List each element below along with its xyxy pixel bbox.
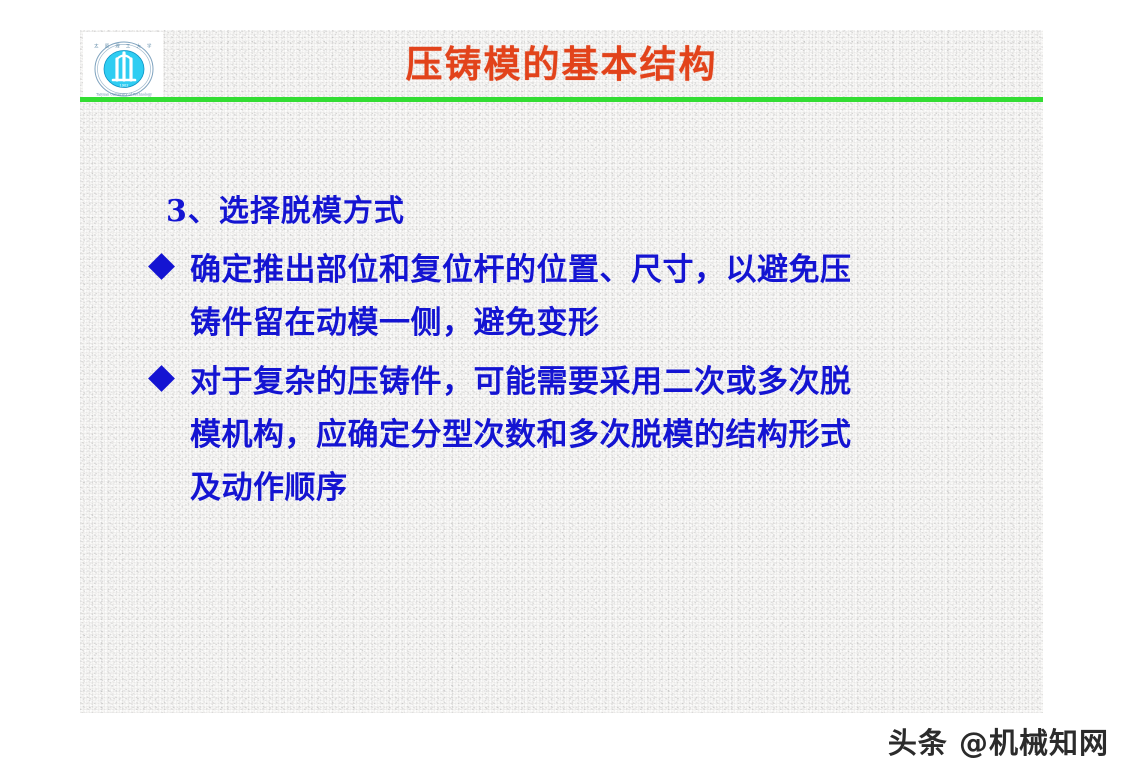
title-underline-rule [80, 97, 1043, 102]
bullet-line: 确定推出部位和复位杆的位置、尺寸，以避免压 [190, 244, 1030, 297]
list-item: 确定推出部位和复位杆的位置、尺寸，以避免压 铸件留在动模一侧，避免变形 [150, 244, 1030, 350]
bullet-line: 铸件留在动模一侧，避免变形 [190, 297, 1030, 350]
slide-title: 压铸模的基本结构 [80, 34, 1043, 94]
slide-header: 1902 太 原 理 工 大 学 Taiyuan University of T… [80, 30, 1043, 102]
bullet-line: 模机构，应确定分型次数和多次脱模的结构形式 [190, 409, 1030, 462]
diamond-bullet-icon [148, 253, 175, 280]
bullet-line: 及动作顺序 [190, 462, 1030, 515]
slide-root: 1902 太 原 理 工 大 学 Taiyuan University of T… [0, 0, 1123, 778]
list-item: 对于复杂的压铸件，可能需要采用二次或多次脱 模机构，应确定分型次数和多次脱模的结… [150, 356, 1030, 515]
slide-body: 3、选择脱模方式 确定推出部位和复位杆的位置、尺寸，以避免压 铸件留在动模一侧，… [150, 190, 1030, 521]
watermark: 头条 @机械知网 [888, 720, 1109, 762]
slide-content-panel: 1902 太 原 理 工 大 学 Taiyuan University of T… [80, 30, 1043, 713]
diamond-bullet-icon [148, 365, 175, 392]
section-heading: 3、选择脱模方式 [166, 190, 1030, 234]
bullet-line: 对于复杂的压铸件，可能需要采用二次或多次脱 [190, 356, 1030, 409]
